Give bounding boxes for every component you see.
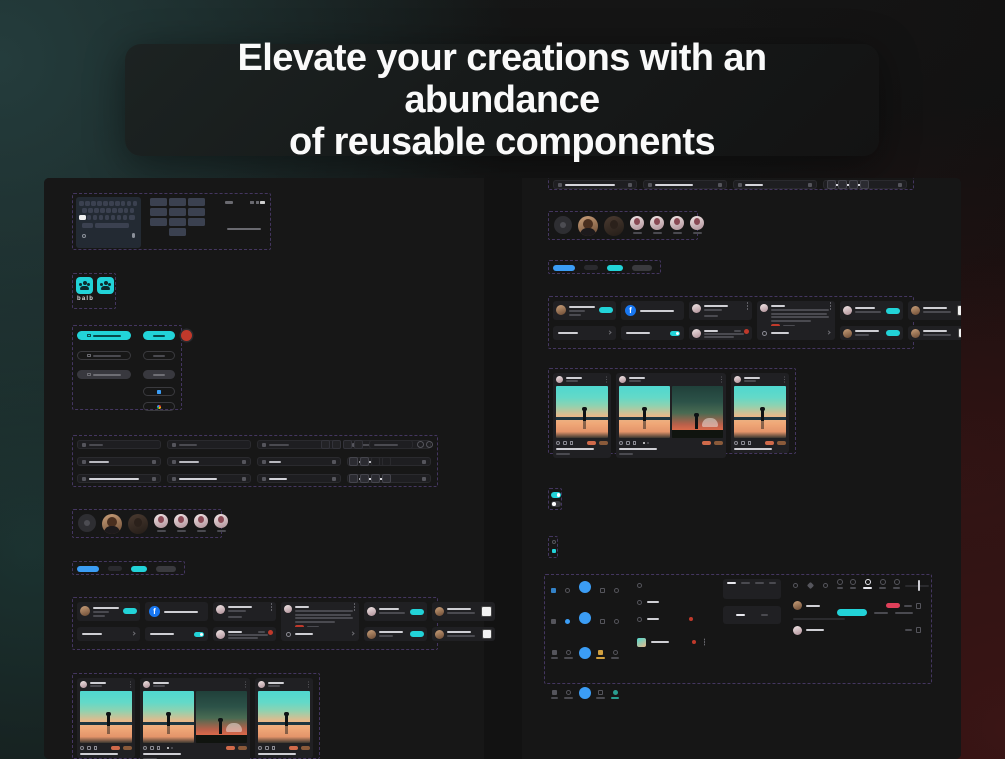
- close-icon[interactable]: [422, 460, 426, 464]
- avatar: [80, 681, 87, 688]
- heart-icon[interactable]: [80, 746, 84, 750]
- avatar: [556, 305, 566, 315]
- avatar-group: [72, 509, 222, 538]
- profile-icon[interactable]: [614, 588, 619, 593]
- tab[interactable]: [769, 582, 776, 584]
- chip-message[interactable]: [837, 609, 867, 616]
- badge-outline[interactable]: [108, 566, 122, 571]
- tab-bar-labeled[interactable]: [551, 681, 619, 699]
- avatar: [367, 630, 376, 639]
- segmented-tabs[interactable]: [723, 606, 781, 624]
- list-item[interactable]: [213, 602, 276, 621]
- reaction-stack: [111, 746, 120, 750]
- mail-icon: [87, 354, 91, 357]
- tab-active[interactable]: [736, 614, 745, 616]
- user-icon: [172, 477, 176, 481]
- group-icon: [100, 281, 111, 290]
- profile-icon[interactable]: [613, 690, 618, 695]
- input-group: [72, 435, 438, 487]
- carousel-dots: [167, 747, 173, 749]
- comment-icon[interactable]: [563, 441, 567, 445]
- unread-badge: [268, 630, 273, 635]
- list-item-discover[interactable]: [757, 326, 835, 340]
- home-indicator: [227, 228, 261, 230]
- home-icon[interactable]: [551, 619, 556, 624]
- mic-icon[interactable]: [132, 233, 135, 238]
- timestamp: [905, 629, 912, 631]
- list-item[interactable]: [689, 301, 752, 320]
- list-item[interactable]: [840, 301, 903, 320]
- checkbox-group: [548, 536, 558, 558]
- bell-icon[interactable]: [823, 583, 828, 588]
- heart-icon[interactable]: [258, 746, 262, 750]
- facebook-icon: f: [625, 305, 636, 316]
- avatar-with-label[interactable]: [214, 514, 228, 532]
- comment-icon[interactable]: [150, 746, 154, 750]
- button-continue-email-outline[interactable]: [77, 351, 131, 360]
- follow-button[interactable]: [410, 631, 424, 637]
- list-item[interactable]: [364, 627, 427, 641]
- thumbnail: [957, 305, 961, 316]
- heart-icon[interactable]: [143, 746, 147, 750]
- otp-box-filled[interactable]: [382, 474, 391, 483]
- menu-stack: [637, 579, 707, 649]
- more-icon[interactable]: [245, 684, 246, 685]
- comment-icon[interactable]: [626, 441, 630, 445]
- otp-box-filled[interactable]: [827, 180, 836, 189]
- list-item[interactable]: [908, 326, 961, 340]
- heart-icon[interactable]: [619, 441, 623, 445]
- follow-button[interactable]: [123, 608, 137, 614]
- compass-icon: [762, 331, 767, 336]
- thumbnail: [482, 629, 492, 639]
- more-icon[interactable]: [784, 379, 785, 380]
- badge-new[interactable]: [607, 265, 623, 271]
- mail-icon: [82, 477, 86, 481]
- trash-icon[interactable]: [916, 627, 921, 633]
- italic-icon[interactable]: [850, 579, 856, 585]
- home-icon[interactable]: [552, 650, 557, 655]
- follow-button[interactable]: [886, 308, 900, 314]
- post-caption: [80, 753, 118, 755]
- avatar: [619, 376, 626, 383]
- toggle-off[interactable]: [551, 501, 561, 507]
- input-password-valid[interactable]: [733, 180, 817, 189]
- status-bar: [221, 198, 267, 246]
- carousel-dots: [643, 442, 649, 444]
- dark-mode-toggle[interactable]: [670, 331, 680, 337]
- message-author: [806, 605, 820, 607]
- input-email-filled[interactable]: [77, 457, 161, 466]
- thumbnail: [481, 606, 492, 617]
- panel-gap: [484, 178, 522, 759]
- bold-icon[interactable]: [837, 579, 843, 585]
- avatar: [80, 606, 90, 616]
- numeric-keypad[interactable]: [150, 198, 205, 242]
- post-photo: [80, 691, 132, 743]
- more-icon[interactable]: [130, 684, 131, 685]
- list-item[interactable]: [432, 627, 495, 641]
- component-board: balb: [44, 178, 961, 759]
- button-label: [93, 335, 121, 337]
- avatar: [258, 681, 265, 688]
- close-icon[interactable]: [422, 477, 426, 481]
- post-photo: [556, 386, 608, 438]
- heart-icon[interactable]: [598, 650, 603, 655]
- list-item[interactable]: [553, 301, 616, 320]
- otp-box-filled[interactable]: [349, 474, 358, 483]
- bookmark-icon[interactable]: [272, 746, 275, 750]
- slider-handle[interactable]: [918, 580, 920, 591]
- lock-icon: [262, 460, 266, 464]
- avatar: [556, 376, 563, 383]
- facebook-icon: f: [149, 606, 160, 617]
- button-group: [72, 325, 182, 410]
- otp-box-filled[interactable]: [838, 180, 847, 189]
- mail-icon: [87, 334, 91, 337]
- avatar[interactable]: [102, 514, 122, 534]
- input-name-valid[interactable]: [643, 180, 727, 189]
- timestamp: [258, 631, 265, 633]
- badge-default[interactable]: [156, 566, 176, 572]
- post-photo-secondary: [196, 691, 247, 743]
- list-item-group: f: [548, 296, 914, 349]
- message-row[interactable]: [793, 626, 921, 635]
- component-sheet-left: balb: [44, 178, 484, 759]
- otp-box-filled[interactable]: [349, 457, 358, 466]
- input-name-filled[interactable]: [167, 457, 251, 466]
- component-sheet-right: f: [522, 178, 961, 759]
- comment-icon[interactable]: [741, 441, 745, 445]
- heart-icon[interactable]: [556, 441, 560, 445]
- more-icon[interactable]: [271, 606, 273, 608]
- search-icon[interactable]: [566, 650, 571, 655]
- input-name-valid[interactable]: [167, 474, 251, 483]
- chip-share[interactable]: [874, 612, 888, 614]
- profile-icon[interactable]: [614, 619, 619, 624]
- post-photo: [258, 691, 310, 743]
- dark-mode-toggle[interactable]: [194, 632, 204, 638]
- avatar[interactable]: [604, 216, 624, 236]
- avatar-group: [548, 211, 698, 240]
- otp-box[interactable]: [343, 440, 352, 449]
- send-icon[interactable]: [426, 441, 433, 448]
- heart-icon[interactable]: [600, 619, 605, 624]
- menu-row[interactable]: [637, 579, 707, 591]
- tab[interactable]: [741, 582, 750, 584]
- radio-icon[interactable]: [552, 540, 556, 544]
- page-title: Elevate your creations with an abundance…: [142, 37, 862, 164]
- user-icon: [84, 520, 90, 526]
- message-author: [806, 629, 824, 631]
- otp-box-filled[interactable]: [371, 474, 380, 483]
- segmented-tabs[interactable]: [723, 579, 781, 599]
- more-icon[interactable]: [721, 379, 722, 380]
- list-item[interactable]: [364, 602, 427, 621]
- heart-icon[interactable]: [598, 690, 603, 695]
- list-item-discover[interactable]: [281, 627, 359, 641]
- follow-button[interactable]: [886, 330, 900, 336]
- check-icon: [152, 460, 156, 464]
- badge-default[interactable]: [632, 265, 652, 271]
- search-icon[interactable]: [565, 619, 570, 624]
- tab-bar[interactable]: [551, 579, 619, 593]
- otp-box-empty[interactable]: [382, 457, 391, 466]
- avatar: [367, 607, 376, 616]
- bookmark-icon[interactable]: [157, 746, 160, 750]
- chevron-icon: [131, 631, 135, 635]
- button-next-outline[interactable]: [143, 351, 175, 360]
- more-icon[interactable]: [830, 305, 832, 307]
- mail-icon: [87, 373, 91, 376]
- profile-icon[interactable]: [613, 650, 618, 655]
- more-icon[interactable]: [308, 684, 309, 685]
- close-icon[interactable]: [898, 183, 902, 187]
- avatar: [216, 605, 225, 614]
- button-continue-email-disabled: [77, 370, 131, 379]
- avatar-with-label[interactable]: [690, 216, 704, 234]
- otp-box-filled[interactable]: [360, 474, 369, 483]
- comment-icon[interactable]: [265, 746, 269, 750]
- input-password-filled[interactable]: [257, 457, 341, 466]
- list-item-setting[interactable]: [77, 627, 140, 641]
- otp-box-filled[interactable]: [849, 180, 858, 189]
- avatar: [911, 306, 920, 315]
- avatar: [284, 605, 292, 613]
- hero-card: Elevate your creations with an abundance…: [125, 44, 879, 156]
- eye-icon[interactable]: [332, 477, 336, 481]
- check-icon: [242, 460, 246, 464]
- avatar-placeholder[interactable]: [554, 216, 572, 234]
- app-icon-label: balb: [77, 296, 94, 302]
- badge-count: [689, 617, 693, 621]
- slider[interactable]: [905, 579, 929, 593]
- avatar-placeholder[interactable]: [78, 514, 96, 532]
- edit-icon[interactable]: [807, 581, 814, 588]
- user-icon: [172, 443, 176, 447]
- gear-icon[interactable]: [793, 583, 798, 588]
- button-facebook[interactable]: [143, 387, 175, 396]
- input-email-empty[interactable]: [77, 440, 161, 449]
- image-icon: [637, 638, 646, 647]
- input-name-empty[interactable]: [167, 440, 251, 449]
- group-icon: [79, 281, 90, 290]
- avatar: [911, 329, 920, 338]
- button-continue-email-filled[interactable]: [77, 331, 131, 340]
- input-email-valid[interactable]: [553, 180, 637, 189]
- button-google[interactable]: [143, 402, 175, 411]
- input-group-top: [548, 178, 914, 190]
- list-item[interactable]: [432, 602, 495, 621]
- list-item-message[interactable]: [213, 627, 276, 641]
- avatar-with-label[interactable]: [670, 216, 684, 234]
- otp-box-filled[interactable]: [360, 457, 369, 466]
- list-item[interactable]: [908, 301, 961, 320]
- post-card[interactable]: [553, 373, 611, 458]
- chevron-icon: [350, 631, 354, 635]
- post-card-group: [72, 673, 320, 759]
- more-icon[interactable]: [354, 606, 356, 608]
- avatar: [435, 607, 444, 616]
- comment-input[interactable]: [369, 440, 413, 449]
- avatar: [143, 681, 150, 688]
- toggle-group: [548, 488, 562, 510]
- follow-button[interactable]: [599, 307, 613, 313]
- post-photo-secondary: [672, 386, 723, 438]
- post-photo: [619, 386, 670, 438]
- chevron-icon: [826, 330, 830, 334]
- list-item-message[interactable]: [689, 326, 752, 340]
- add-icon[interactable]: [579, 687, 591, 699]
- avatar: [734, 376, 741, 383]
- badge-featured[interactable]: [553, 265, 575, 271]
- emoji-icon[interactable]: [82, 234, 86, 238]
- app-icon-group: balb: [72, 273, 116, 309]
- check-icon: [152, 477, 156, 481]
- list-icon[interactable]: [894, 579, 900, 585]
- avatar: [216, 630, 225, 639]
- badge-group: [72, 561, 185, 575]
- avatar-with-label[interactable]: [630, 216, 644, 234]
- backspace-icon[interactable]: [188, 228, 196, 236]
- chip-save[interactable]: [895, 612, 913, 614]
- list-item-title: [93, 607, 119, 609]
- bookmark-icon[interactable]: [748, 441, 751, 445]
- home-icon[interactable]: [552, 690, 557, 695]
- list-item[interactable]: [840, 326, 903, 340]
- heart-icon[interactable]: [734, 441, 738, 445]
- otp-box-empty[interactable]: [371, 457, 380, 466]
- app-icon-primary[interactable]: [76, 277, 93, 294]
- avatar: [692, 304, 701, 313]
- tab-bar[interactable]: [551, 610, 619, 624]
- tab[interactable]: [761, 614, 768, 616]
- button-next-disabled: [143, 370, 175, 379]
- heart-icon[interactable]: [600, 588, 605, 593]
- home-icon[interactable]: [551, 588, 556, 593]
- add-icon[interactable]: [579, 581, 591, 593]
- avatar-with-label[interactable]: [154, 514, 168, 532]
- list-item-setting[interactable]: [553, 326, 616, 340]
- badge-new[interactable]: [131, 566, 147, 572]
- post-photo: [734, 386, 786, 438]
- thumbnail: [958, 328, 961, 338]
- avatar: [843, 306, 852, 315]
- post-card[interactable]: [255, 678, 313, 758]
- avatar-with-label[interactable]: [650, 216, 664, 234]
- menu-row[interactable]: [637, 596, 707, 608]
- list-item-facebook[interactable]: f: [621, 301, 684, 320]
- status-icons: [250, 201, 265, 204]
- bookmark-icon[interactable]: [570, 441, 573, 445]
- mail-icon: [558, 183, 562, 187]
- post-card-group: [548, 368, 796, 454]
- avatar: [435, 630, 444, 639]
- app-icon-secondary[interactable]: [97, 277, 114, 294]
- record-button[interactable]: [181, 330, 192, 341]
- facebook-icon: [157, 390, 161, 394]
- link-icon[interactable]: [865, 579, 871, 585]
- smiley-icon[interactable]: [417, 441, 424, 448]
- bookmark-icon[interactable]: [633, 441, 636, 445]
- more-icon[interactable]: [747, 305, 749, 307]
- post-card[interactable]: [77, 678, 135, 758]
- avatar-with-label[interactable]: [194, 514, 208, 532]
- list-item[interactable]: [77, 602, 140, 621]
- menu-label: [651, 641, 669, 643]
- post-card[interactable]: [140, 678, 250, 759]
- checkbox[interactable]: [552, 549, 556, 553]
- badge-outline[interactable]: [584, 265, 598, 270]
- search-icon[interactable]: [565, 588, 570, 593]
- segmented-tabs-stack: [723, 579, 781, 624]
- badge-featured[interactable]: [77, 566, 99, 572]
- avatar: [793, 601, 802, 610]
- check-icon: [242, 477, 246, 481]
- tab[interactable]: [755, 582, 764, 584]
- otp-box[interactable]: [332, 440, 341, 449]
- eye-icon[interactable]: [332, 460, 336, 464]
- toggle-on[interactable]: [551, 492, 561, 498]
- follow-button[interactable]: [410, 609, 424, 615]
- menu-row-photo[interactable]: [637, 635, 707, 649]
- user-icon: [648, 183, 652, 187]
- avatar: [692, 329, 701, 338]
- gear-icon: [637, 600, 642, 605]
- post-photo: [143, 691, 194, 743]
- avatar-with-label[interactable]: [174, 514, 188, 532]
- otp-box[interactable]: [354, 440, 363, 449]
- input-email-valid[interactable]: [77, 474, 161, 483]
- chevron-icon: [607, 330, 611, 334]
- list-item-group: f: [72, 597, 438, 650]
- button-next-filled[interactable]: [143, 331, 175, 340]
- comment-icon[interactable]: [87, 746, 91, 750]
- otp-box-filled[interactable]: [860, 180, 869, 189]
- input-password-valid[interactable]: [257, 474, 341, 483]
- eye-icon[interactable]: [808, 183, 812, 187]
- image-icon[interactable]: [880, 579, 886, 585]
- add-icon[interactable]: [579, 647, 591, 659]
- tab-bar-labeled[interactable]: [551, 641, 619, 659]
- tab-bar-stack: [551, 579, 619, 699]
- more-icon[interactable]: [606, 379, 607, 380]
- search-icon[interactable]: [566, 690, 571, 695]
- add-icon[interactable]: [579, 612, 591, 624]
- post-handle: [90, 685, 102, 687]
- navigation-dashboard-group: [544, 574, 932, 684]
- otp-box[interactable]: [321, 440, 330, 449]
- lock-icon: [262, 477, 266, 481]
- list-item-toggle[interactable]: [621, 326, 684, 340]
- lock-icon: [738, 183, 742, 187]
- post-card[interactable]: [731, 373, 789, 453]
- post-card[interactable]: [616, 373, 726, 458]
- list-item-subtitle: [93, 611, 109, 613]
- avatar[interactable]: [128, 514, 148, 534]
- menu-row[interactable]: [637, 613, 707, 625]
- list-item-facebook[interactable]: f: [145, 602, 208, 621]
- bookmark-icon[interactable]: [94, 746, 97, 750]
- compass-icon: [286, 632, 291, 637]
- more-icon[interactable]: [704, 641, 705, 642]
- avatar[interactable]: [578, 216, 598, 236]
- keyboard-group: [72, 193, 271, 250]
- virtual-keyboard[interactable]: [76, 197, 141, 248]
- mail-icon: [82, 460, 86, 464]
- tab-active[interactable]: [727, 582, 736, 584]
- list-item-toggle[interactable]: [145, 627, 208, 641]
